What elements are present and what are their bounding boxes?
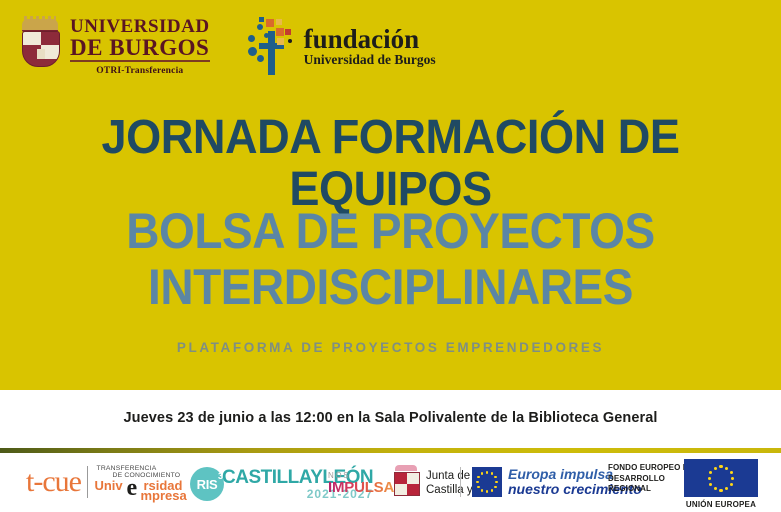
nos-impulsa-logo: NOS IMPULSA <box>328 471 394 496</box>
union-europea-block: UNIÓN EUROPEA <box>684 459 758 509</box>
ris3-badge-icon: RIS 3 <box>190 467 224 501</box>
tcue-wordmark: t-cue <box>26 467 81 497</box>
footer-sponsor-bar: t-cue TRANSFERENCIA DE CONOCIMIENTO Univ… <box>0 453 781 512</box>
poster-subtitle-line1: BOLSA DE PROYECTOS <box>31 203 750 259</box>
union-europea-caption: UNIÓN EUROPEA <box>684 500 758 509</box>
tcue-divider <box>87 466 89 498</box>
poster-subtitle: BOLSA DE PROYECTOS INTERDISCIPLINARES <box>31 203 750 315</box>
feder-line3: REGIONAL <box>608 484 694 495</box>
tcue-univ-e: e <box>126 476 137 500</box>
tcue-descriptor: TRANSFERENCIA DE CONOCIMIENTO Univ e rsi… <box>94 465 190 499</box>
fundacion-ubu-logo: fundación Universidad de Burgos <box>246 17 436 75</box>
fundacion-tree-icon <box>246 17 298 75</box>
fundacion-wordmark: fundación Universidad de Burgos <box>304 26 436 67</box>
eu-flag-icon <box>472 467 502 497</box>
tcue-line1: TRANSFERENCIA <box>96 465 156 472</box>
eu-flag-icon <box>684 459 758 497</box>
tcue-empresa: mpresa <box>140 488 186 503</box>
header-logo-row: UNIVERSIDAD DE BURGOS OTRI-Transferencia <box>0 6 781 86</box>
poster-tagline: PLATAFORMA DE PROYECTOS EMPRENDEDORES <box>0 340 781 355</box>
footer-divider <box>460 467 461 497</box>
feder-text-block: FONDO EUROPEO DE DESARROLLO REGIONAL <box>608 463 694 495</box>
poster-subtitle-line2: INTERDISCIPLINARES <box>31 259 750 315</box>
junta-coat-of-arms-icon <box>392 465 420 495</box>
ubu-line2: DE BURGOS <box>70 36 210 62</box>
tcue-univ-part1: Univ <box>94 478 122 493</box>
fundacion-title: fundación <box>304 26 436 52</box>
event-datetime-location: Jueves 23 de junio a las 12:00 en la Sal… <box>123 410 657 426</box>
poster-main-title: JORNADA FORMACIÓN DE EQUIPOS <box>23 112 757 216</box>
ris3-badge-text: RIS <box>197 477 218 492</box>
fundacion-subtitle: Universidad de Burgos <box>304 52 436 67</box>
tcue-logo: t-cue TRANSFERENCIA DE CONOCIMIENTO Univ… <box>26 465 190 499</box>
ubu-wordmark: UNIVERSIDAD DE BURGOS OTRI-Transferencia <box>70 17 210 76</box>
feder-line1: FONDO EUROPEO DE <box>608 463 694 474</box>
nos-impulsa-word: IMPULSA <box>328 480 394 496</box>
ubu-coat-of-arms-icon <box>18 19 62 75</box>
ubu-line1: UNIVERSIDAD <box>70 17 210 36</box>
poster-root: UNIVERSIDAD DE BURGOS OTRI-Transferencia <box>0 0 781 512</box>
feder-line2: DESARROLLO <box>608 474 694 485</box>
date-band: Jueves 23 de junio a las 12:00 en la Sal… <box>0 390 781 446</box>
universidad-de-burgos-logo: UNIVERSIDAD DE BURGOS OTRI-Transferencia <box>18 17 210 76</box>
ubu-otri-tagline: OTRI-Transferencia <box>70 66 210 76</box>
